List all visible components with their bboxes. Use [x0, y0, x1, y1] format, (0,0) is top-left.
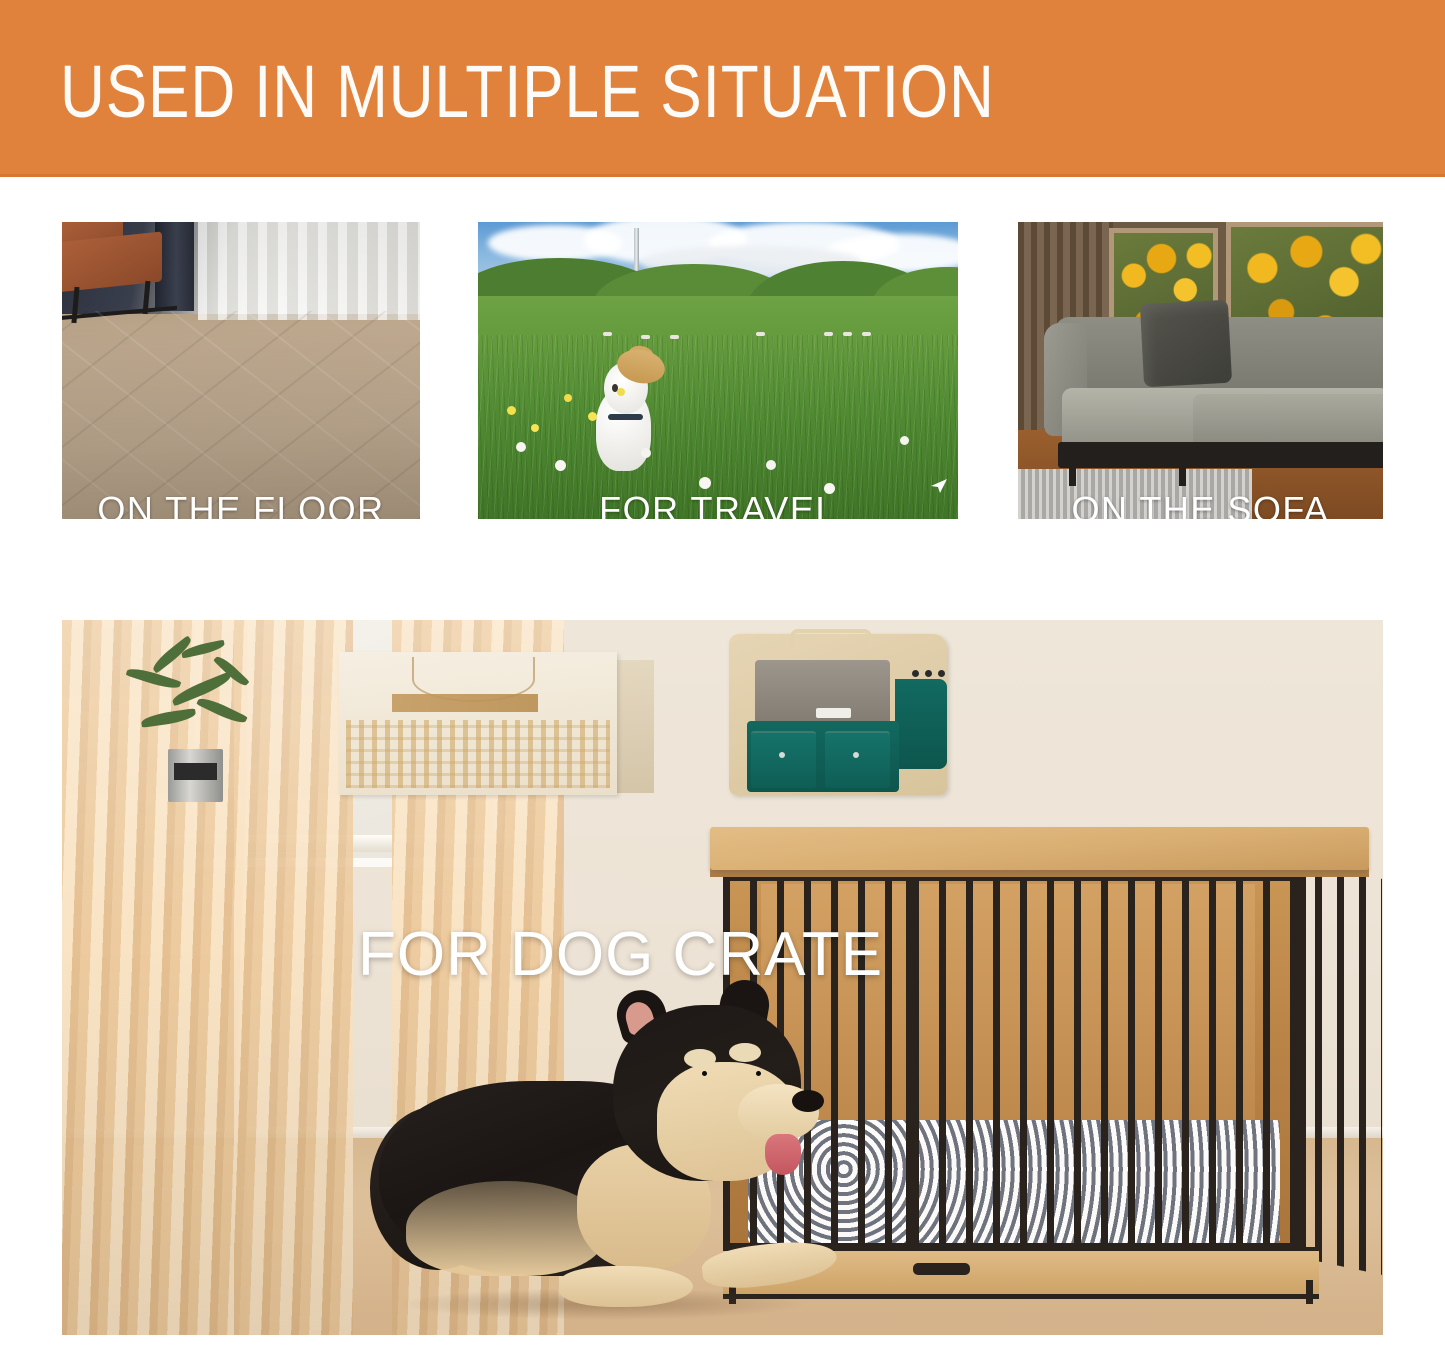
- sheep: [862, 332, 871, 336]
- flower: [766, 460, 776, 470]
- grassland-scene-image: [478, 222, 958, 519]
- crate-foot: [1306, 1280, 1314, 1304]
- carrier-side-panel: [895, 679, 947, 769]
- crate-wooden-top: [710, 827, 1369, 869]
- plant-leaf: [140, 708, 197, 728]
- situation-thumbnail-row: ON THE FLOOR: [0, 222, 1445, 519]
- thumbnail-for-travel[interactable]: FOR TRAVEL: [478, 222, 958, 519]
- sheep: [603, 332, 612, 336]
- sheep: [824, 332, 833, 336]
- sofa-leg: [1179, 460, 1186, 487]
- dog-tongue: [765, 1134, 801, 1175]
- sheep: [670, 335, 679, 339]
- crate-frame: [1299, 875, 1306, 1253]
- flower: [531, 424, 539, 432]
- header-banner: USED IN MULTIPLE SITUATION: [0, 0, 1445, 177]
- page-title: USED IN MULTIPLE SITUATION: [60, 52, 995, 132]
- sheep: [756, 332, 765, 336]
- sofa-leg: [1069, 460, 1076, 487]
- carrier-snap-button: [779, 752, 785, 758]
- carrier-vent-hole: [912, 670, 919, 677]
- dog-collar: [608, 414, 643, 420]
- hero-caption: FOR DOG CRATE: [358, 922, 883, 988]
- dog-paw: [700, 1236, 839, 1293]
- dog-nose: [792, 1090, 823, 1112]
- vase-label: [174, 763, 216, 780]
- floor-scene-image: [62, 222, 420, 519]
- flower: [507, 406, 516, 415]
- sofa-cushion: [1140, 300, 1232, 388]
- potted-plant: [115, 641, 300, 763]
- thumbnail-on-the-floor[interactable]: ON THE FLOOR: [62, 222, 420, 519]
- thumbnail-caption: FOR TRAVEL: [478, 491, 958, 519]
- crate-side-bars: [1293, 860, 1382, 1275]
- flower: [641, 448, 651, 458]
- carrier-brand-tag: [816, 708, 851, 718]
- dog-eyebrow: [684, 1049, 715, 1068]
- carrier-vent-hole: [938, 670, 945, 677]
- sofa-scene-image: [1018, 222, 1383, 519]
- thumbnail-caption: ON THE SOFA: [1018, 491, 1383, 519]
- carrier-handle: [790, 629, 872, 647]
- carrier-pocket: [751, 731, 816, 788]
- carrier-pocket: [825, 731, 890, 788]
- malamute-dog: [379, 999, 828, 1314]
- crate-door-divider[interactable]: [906, 879, 912, 1247]
- sheep: [641, 335, 650, 339]
- crate-drawer-handle[interactable]: [913, 1263, 970, 1274]
- thumbnail-caption: ON THE FLOOR: [62, 491, 420, 519]
- scene-shading: [62, 222, 420, 519]
- thumbnail-on-the-sofa[interactable]: ON THE SOFA: [1018, 222, 1383, 519]
- gift-bag-brand-label: [392, 694, 537, 711]
- sheep: [843, 332, 852, 336]
- pet-carrier-backpack: [729, 634, 947, 795]
- flower: [555, 460, 566, 471]
- dog-side-marking: [406, 1181, 604, 1275]
- plant-leaf: [196, 694, 247, 727]
- carrier-vent-hole: [925, 670, 932, 677]
- gift-bag-pattern: [346, 720, 610, 788]
- dog-eyebrow: [729, 1043, 760, 1062]
- sofa-base: [1058, 442, 1383, 469]
